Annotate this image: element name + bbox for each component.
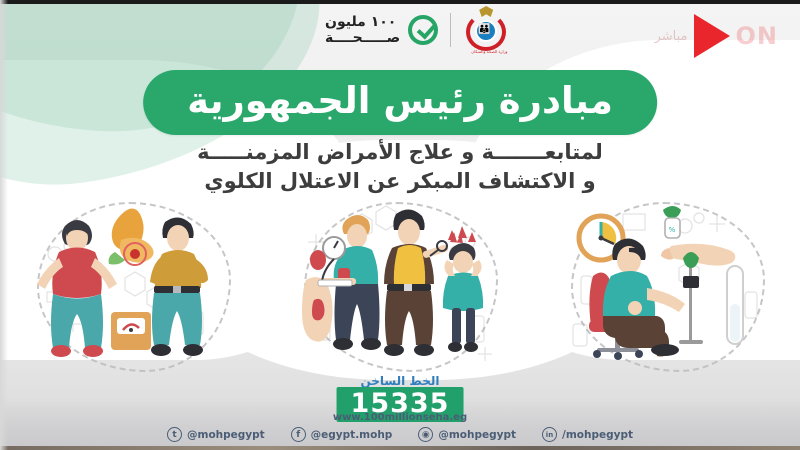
social-item-linkedin[interactable]: in /mohpegypt [542,427,633,442]
social-handle-instagram: @mohpegypt [438,429,516,441]
subtitle-line-2: و الاكتشاف المبكر عن الاعتلال الكلوي [204,169,595,193]
subtitle-line-1: لمتابعـــــــة و علاج الأمراض المزمنــــ… [197,140,603,164]
foot-icon [302,277,333,342]
headache-symbol-icon [448,226,476,243]
check-circle-icon [408,15,438,45]
twitter-icon: t [167,427,182,442]
panel-blood-pressure-screening [292,196,508,376]
live-label: مباشر [655,29,688,44]
family-icon: 👪 [478,24,489,35]
hotline-label: الخط الساخن [360,374,439,388]
campaign-logo-line1: ١٠٠ مليون [325,15,396,29]
panel-kidney-dialysis-screening: % [559,196,775,376]
svg-text:%: % [668,226,675,234]
logo-divider [450,13,451,47]
page-title: مبادرة رئيس الجمهورية [143,70,657,135]
blood-pressure-illustration [292,196,508,376]
obesity-illustration [25,196,241,376]
social-item-instagram[interactable]: ◉ @mohpegypt [418,427,516,442]
iv-stand-icon [679,252,703,344]
channel-logo-text: ON [736,22,779,50]
illustration-panels: % [0,196,800,376]
campaign-logo-line2: صـــــحــــة [325,31,400,45]
website-url: www.100millionseha.eg [333,412,467,423]
standing-man-figure [150,217,208,356]
campaign-logo-text: ١٠٠ مليون صـــــحــــة [325,15,400,45]
social-handle-twitter: @mohpegypt [187,429,265,441]
iv-drip-icon: % [663,206,681,238]
social-handle-facebook: @egypt.mohp [311,429,393,441]
ministry-caption: وزارة الصحة والسكان [471,49,507,54]
background-top-letterbox [0,0,800,4]
header-logo-row: ١٠٠ مليون صـــــحــــة 👪 وزارة الصحة وال… [325,6,509,54]
test-tube-icon [727,266,743,344]
social-item-facebook[interactable]: f @egypt.mohp [291,427,393,442]
social-media-bar: t @mohpegypt f @egypt.mohp ◉ @mohpegypt … [167,427,633,442]
arm-icon [661,244,735,266]
overweight-woman-figure [37,220,117,357]
social-item-twitter[interactable]: t @mohpegypt [167,427,265,442]
panel-obesity-chronic-disease [25,196,241,376]
linkedin-icon: in [542,427,557,442]
moh-egypt-emblem: 👪 وزارة الصحة والسكان [463,6,509,54]
play-triangle-icon [694,14,730,58]
child-headache-figure [443,226,483,352]
channel-live-bug: مباشر ON [655,14,778,58]
broadcast-frame: ١٠٠ مليون صـــــحــــة 👪 وزارة الصحة وال… [0,0,800,450]
dialysis-illustration: % [559,196,775,376]
patient-man-figure [384,209,449,356]
social-handle-linkedin: /mohpegypt [562,429,633,441]
background-bottom-edge-line [0,446,800,450]
facebook-icon: f [291,427,306,442]
stomach-organ-icon [109,208,154,265]
weighing-scale-icon [111,312,151,350]
instagram-icon: ◉ [418,427,433,442]
